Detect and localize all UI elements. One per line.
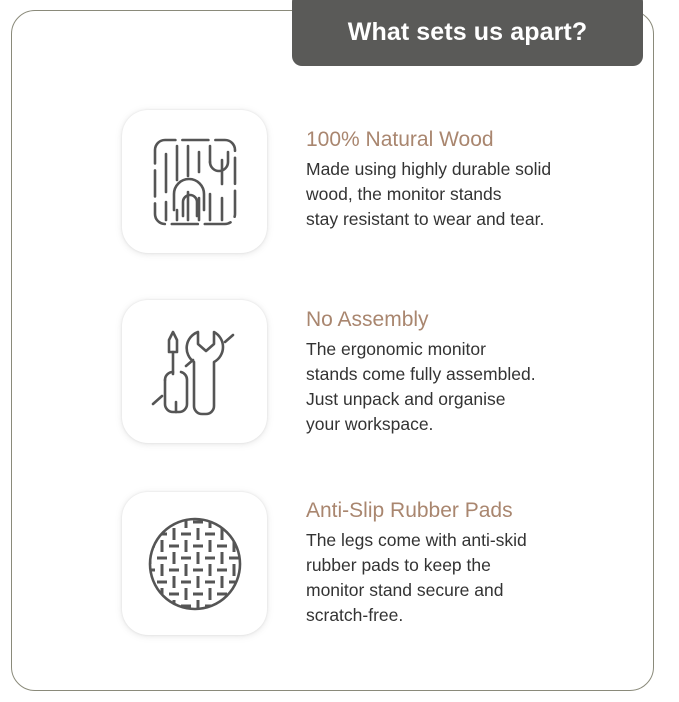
feature-description-line: monitor stand secure and <box>306 578 636 603</box>
screwdriver-wrench-icon <box>145 322 245 422</box>
feature-description: The legs come with anti-skid rubber pads… <box>306 528 636 627</box>
feature-description-line: wood, the monitor stands <box>306 182 636 207</box>
icon-tile-natural-wood <box>122 110 267 253</box>
feature-description-line: The ergonomic monitor <box>306 337 636 362</box>
feature-description-line: Just unpack and organise <box>306 387 636 412</box>
feature-text-block: No Assembly The ergonomic monitor stands… <box>306 308 636 436</box>
feature-text-block: Anti-Slip Rubber Pads The legs come with… <box>306 499 636 627</box>
feature-description-line: stands come fully assembled. <box>306 362 636 387</box>
feature-description: The ergonomic monitor stands come fully … <box>306 337 636 436</box>
feature-title: 100% Natural Wood <box>306 128 636 151</box>
wood-grain-icon <box>147 132 243 232</box>
feature-description-line: scratch-free. <box>306 603 636 628</box>
feature-description-line: stay resistant to wear and tear. <box>306 207 636 232</box>
feature-description-line: The legs come with anti-skid <box>306 528 636 553</box>
feature-highlights-page: What sets us apart? <box>0 0 679 702</box>
feature-description: Made using highly durable solid wood, th… <box>306 157 636 232</box>
feature-title: Anti-Slip Rubber Pads <box>306 499 636 522</box>
banner-title: What sets us apart? <box>348 20 587 45</box>
icon-tile-rubber-pads <box>122 492 267 635</box>
feature-description-line: Made using highly durable solid <box>306 157 636 182</box>
feature-title: No Assembly <box>306 308 636 331</box>
icon-tile-no-assembly <box>122 300 267 443</box>
rubber-pad-weave-icon <box>143 512 247 616</box>
feature-text-block: 100% Natural Wood Made using highly dura… <box>306 128 636 232</box>
feature-description-line: your workspace. <box>306 412 636 437</box>
feature-description-line: rubber pads to keep the <box>306 553 636 578</box>
header-banner: What sets us apart? <box>292 0 643 66</box>
